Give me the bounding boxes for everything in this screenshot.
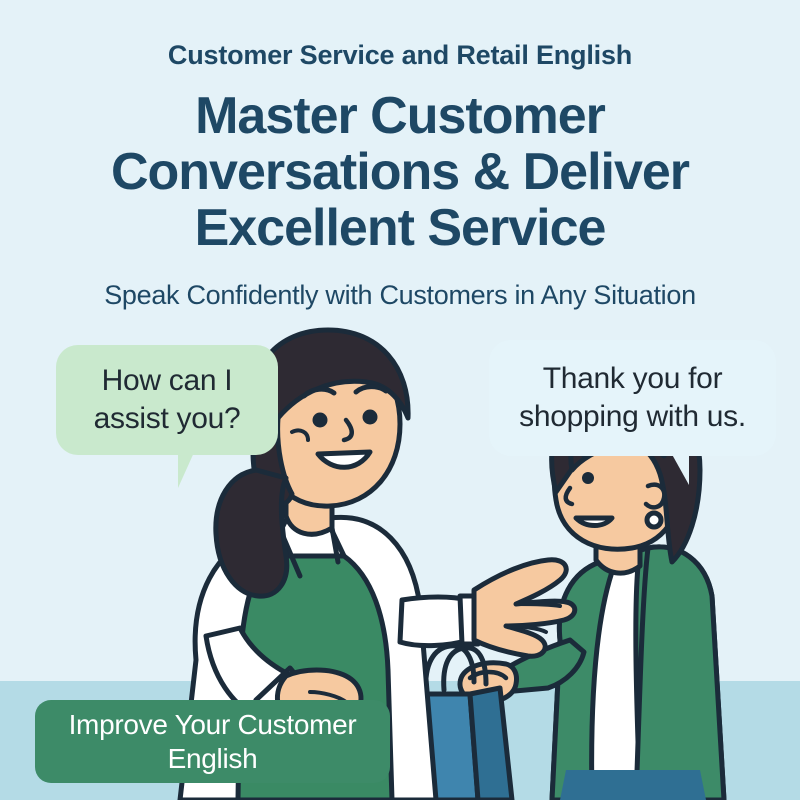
cta-line-2: English [69, 742, 357, 776]
clerk-bubble-line-2: assist you? [94, 400, 241, 438]
poster-canvas: Customer Service and Retail English Mast… [0, 0, 800, 800]
cta-line-1: Improve Your Customer [69, 708, 357, 742]
headline-line-1: Master Customer [40, 88, 760, 144]
eyebrow-text: Customer Service and Retail English [0, 40, 800, 71]
clerk-speech-bubble-text: How can I assist you? [94, 362, 241, 438]
subtitle-text: Speak Confidently with Customers in Any … [0, 280, 800, 311]
headline-line-3: Excellent Service [40, 200, 760, 256]
clerk-speech-bubble: How can I assist you? [56, 345, 278, 455]
cta-label: Improve Your Customer English [69, 708, 357, 776]
clerk-bubble-line-1: How can I [94, 362, 241, 400]
customer-speech-bubble-text: Thank you for shopping with us. [519, 360, 746, 436]
customer-bubble-line-2: shopping with us. [519, 398, 746, 436]
improve-customer-english-button[interactable]: Improve Your Customer English [35, 700, 390, 783]
page-title: Master Customer Conversations & Deliver … [40, 88, 760, 256]
headline-line-2: Conversations & Deliver [40, 144, 760, 200]
customer-speech-bubble: Thank you for shopping with us. [489, 340, 776, 456]
customer-bubble-line-1: Thank you for [519, 360, 746, 398]
